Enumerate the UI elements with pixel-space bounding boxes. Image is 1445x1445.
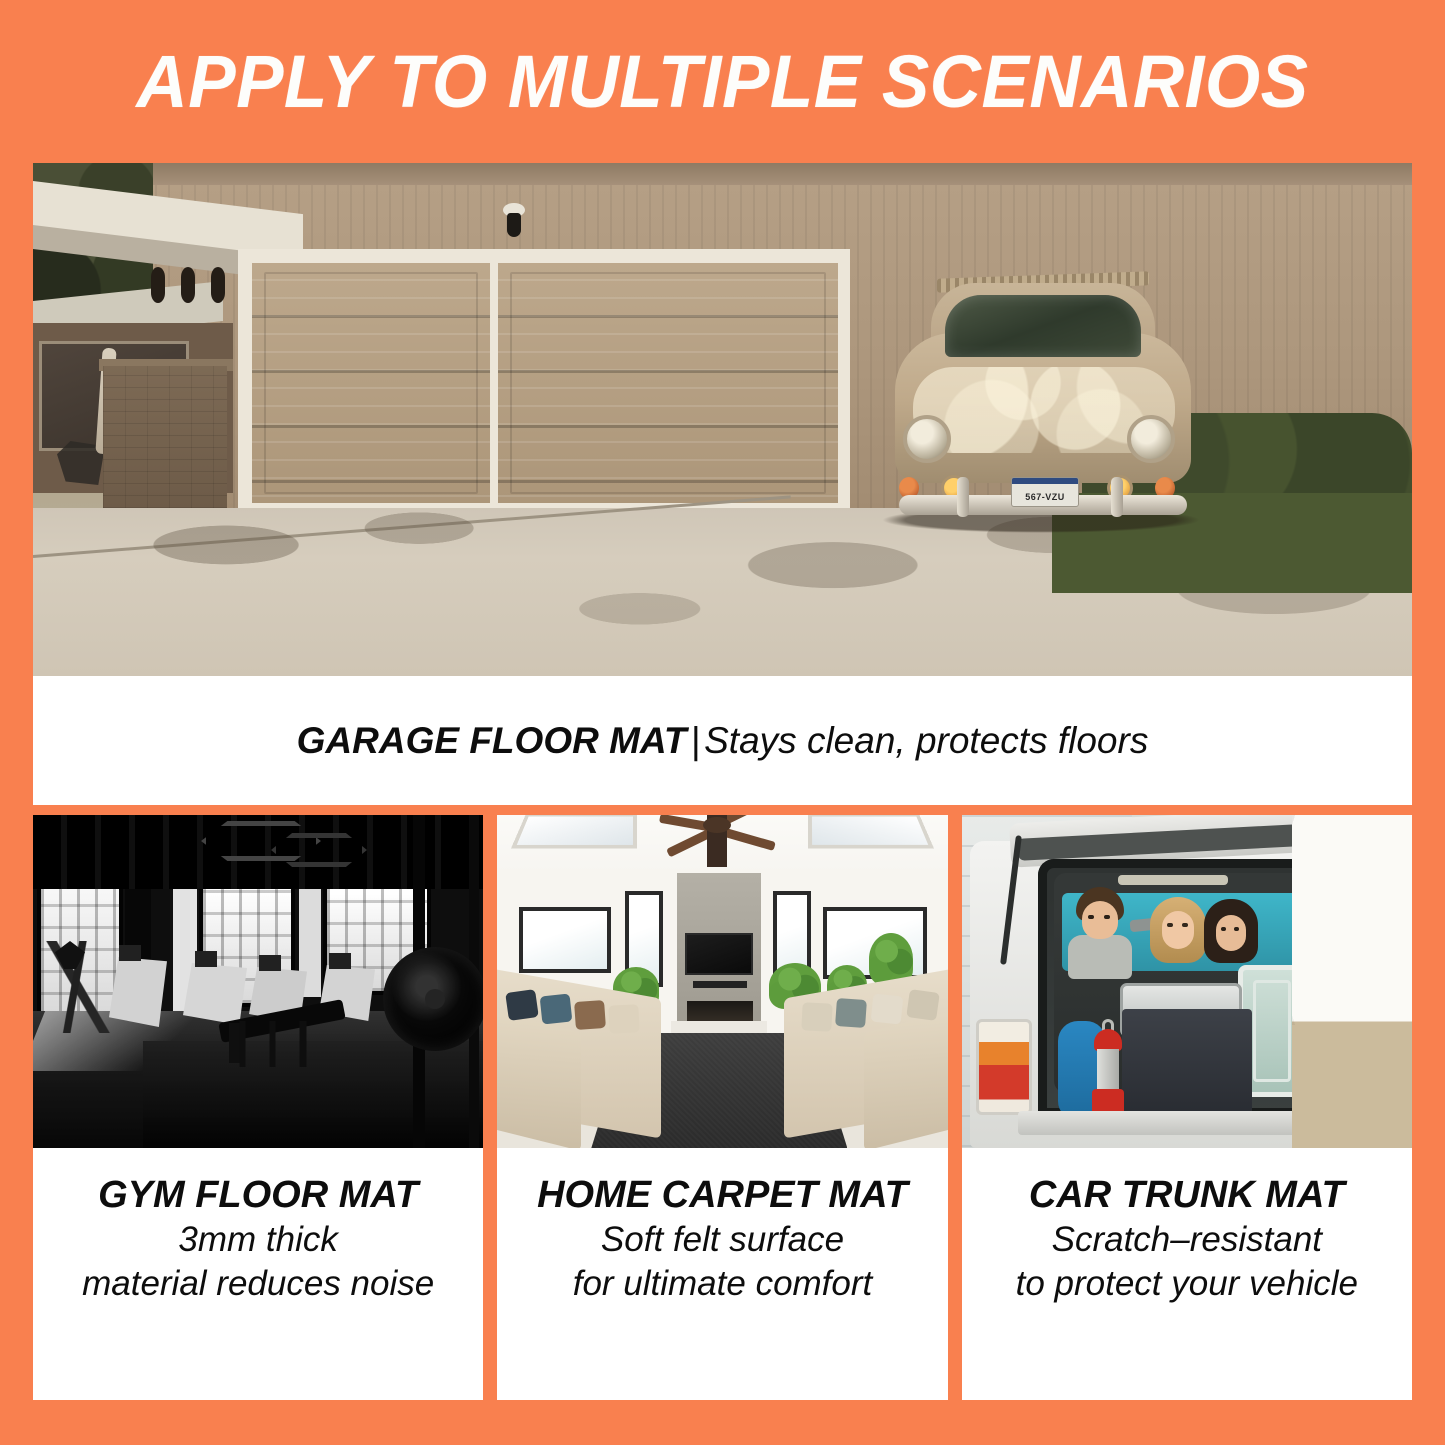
house-digit bbox=[151, 267, 165, 303]
weight-bench-legs bbox=[223, 1021, 323, 1067]
woman-eye-left bbox=[1167, 923, 1173, 927]
featured-scenario-card: 567-VZU GARAGE FLOOR MAT|Stays clean, pr… bbox=[33, 163, 1412, 805]
throw-pillow-8 bbox=[801, 1002, 832, 1032]
throw-pillow-7 bbox=[835, 998, 867, 1028]
featured-caption: GARAGE FLOOR MAT|Stays clean, protects f… bbox=[33, 676, 1412, 805]
throw-pillow-4 bbox=[609, 1004, 640, 1034]
cargo-dome-light bbox=[1118, 875, 1228, 885]
treadmill-console-3 bbox=[259, 955, 281, 971]
page-header: APPLY TO MULTIPLE SCENARIOS bbox=[0, 0, 1445, 163]
bumper-guard-right bbox=[1111, 477, 1123, 517]
garage-driveway-photo: 567-VZU bbox=[33, 163, 1412, 676]
home-caption: HOME CARPET MAT Soft felt surface for ul… bbox=[497, 1148, 947, 1400]
throw-pillow-2 bbox=[540, 994, 573, 1025]
treadmill-console-1 bbox=[119, 945, 141, 961]
vintage-car: 567-VZU bbox=[873, 263, 1213, 533]
treadmill-console-2 bbox=[195, 951, 217, 967]
car-trunk-caption: CAR TRUNK MAT Scratch–resistant to prote… bbox=[962, 1148, 1412, 1400]
license-plate-number: 567-VZU bbox=[1012, 493, 1078, 502]
living-room-scene bbox=[497, 815, 947, 1148]
scenario-card-car-trunk: CAR TRUNK MAT Scratch–resistant to prote… bbox=[962, 815, 1412, 1400]
treadmill-1 bbox=[109, 957, 167, 1027]
headlight-right bbox=[1127, 415, 1175, 463]
tail-light bbox=[976, 1019, 1032, 1115]
license-plate: 567-VZU bbox=[1011, 477, 1079, 507]
girl-eye-left bbox=[1221, 927, 1226, 931]
wall-mounted-tv bbox=[685, 933, 753, 975]
car-trunk-caption-title: CAR TRUNK MAT bbox=[1029, 1174, 1345, 1218]
featured-caption-title: GARAGE FLOOR MAT bbox=[297, 720, 687, 761]
skylight-left bbox=[511, 815, 637, 849]
barbell-weight-plate bbox=[383, 947, 483, 1051]
camping-lantern bbox=[1090, 1019, 1126, 1119]
car-trunk-family-photo bbox=[962, 815, 1412, 1148]
person-standing-right bbox=[1292, 815, 1412, 1148]
car-trunk-mat bbox=[1122, 1009, 1252, 1125]
throw-pillow-1 bbox=[506, 989, 540, 1021]
home-caption-line-1: Soft felt surface bbox=[601, 1218, 844, 1262]
sofa-right-armrest bbox=[864, 1009, 948, 1148]
security-flood-light bbox=[503, 203, 525, 237]
woman-face bbox=[1162, 911, 1194, 949]
gym-caption-line-1: 3mm thick bbox=[178, 1218, 337, 1262]
roof-eave bbox=[129, 163, 1412, 185]
adult-woman bbox=[1146, 897, 1210, 977]
child-boy bbox=[1068, 887, 1132, 973]
woman-eye-right bbox=[1182, 923, 1188, 927]
treadmill-console-4 bbox=[329, 953, 351, 969]
home-caption-title: HOME CARPET MAT bbox=[537, 1174, 908, 1218]
house-digit bbox=[181, 267, 195, 303]
bumper-guard-left bbox=[957, 477, 969, 517]
girl-face bbox=[1216, 915, 1246, 951]
boy-eye-right bbox=[1104, 915, 1110, 919]
brick-pillar bbox=[103, 366, 227, 508]
car-trunk-caption-line-2: to protect your vehicle bbox=[1016, 1262, 1358, 1306]
scenario-card-gym: GYM FLOOR MAT 3mm thick material reduces… bbox=[33, 815, 483, 1400]
gym-interior-photo bbox=[33, 815, 483, 1148]
fireplace-hearth bbox=[671, 1021, 767, 1035]
car-trunk-scene bbox=[962, 815, 1412, 1148]
car-trunk-caption-line-1: Scratch–resistant bbox=[1052, 1218, 1322, 1262]
boy-torso bbox=[1068, 935, 1132, 979]
boy-eye-left bbox=[1088, 915, 1094, 919]
gym-caption: GYM FLOOR MAT 3mm thick material reduces… bbox=[33, 1148, 483, 1400]
throw-pillow-5 bbox=[906, 989, 940, 1021]
garage-door-right bbox=[498, 263, 838, 503]
gym-caption-title: GYM FLOOR MAT bbox=[98, 1174, 418, 1218]
garage-door-panel-inset bbox=[264, 272, 478, 494]
boy-face bbox=[1082, 901, 1118, 939]
car-windshield bbox=[945, 295, 1141, 357]
scenario-card-home: HOME CARPET MAT Soft felt surface for ul… bbox=[497, 815, 947, 1400]
garage-door-panel-inset bbox=[510, 272, 826, 494]
lantern-top-cap bbox=[1094, 1029, 1122, 1051]
soundbar bbox=[693, 981, 747, 988]
garage-door-left bbox=[252, 263, 490, 503]
house-digit bbox=[211, 267, 225, 303]
scenario-card-row: GYM FLOOR MAT 3mm thick material reduces… bbox=[33, 815, 1412, 1400]
skylight-right bbox=[807, 815, 933, 849]
girl-eye-right bbox=[1234, 927, 1239, 931]
featured-caption-line: GARAGE FLOOR MAT|Stays clean, protects f… bbox=[297, 720, 1149, 762]
featured-caption-separator: | bbox=[687, 720, 705, 761]
living-room-carpet-photo bbox=[497, 815, 947, 1148]
gym-scene bbox=[33, 815, 483, 1148]
gym-caption-line-2: material reduces noise bbox=[82, 1262, 434, 1306]
rear-bumper bbox=[1018, 1111, 1318, 1135]
elliptical-machine bbox=[41, 941, 119, 1033]
featured-caption-description: Stays clean, protects floors bbox=[704, 720, 1148, 761]
throw-pillow-3 bbox=[574, 1000, 606, 1030]
shirt-fabric-folds bbox=[1292, 815, 1412, 1025]
page-title: APPLY TO MULTIPLE SCENARIOS bbox=[136, 39, 1308, 124]
lantern-globe bbox=[1097, 1049, 1119, 1091]
home-caption-line-2: for ultimate comfort bbox=[573, 1262, 873, 1306]
throw-pillow-6 bbox=[870, 994, 903, 1025]
sofa-left-armrest bbox=[497, 1009, 581, 1148]
headlight-left bbox=[903, 415, 951, 463]
window-far-left bbox=[519, 907, 611, 973]
